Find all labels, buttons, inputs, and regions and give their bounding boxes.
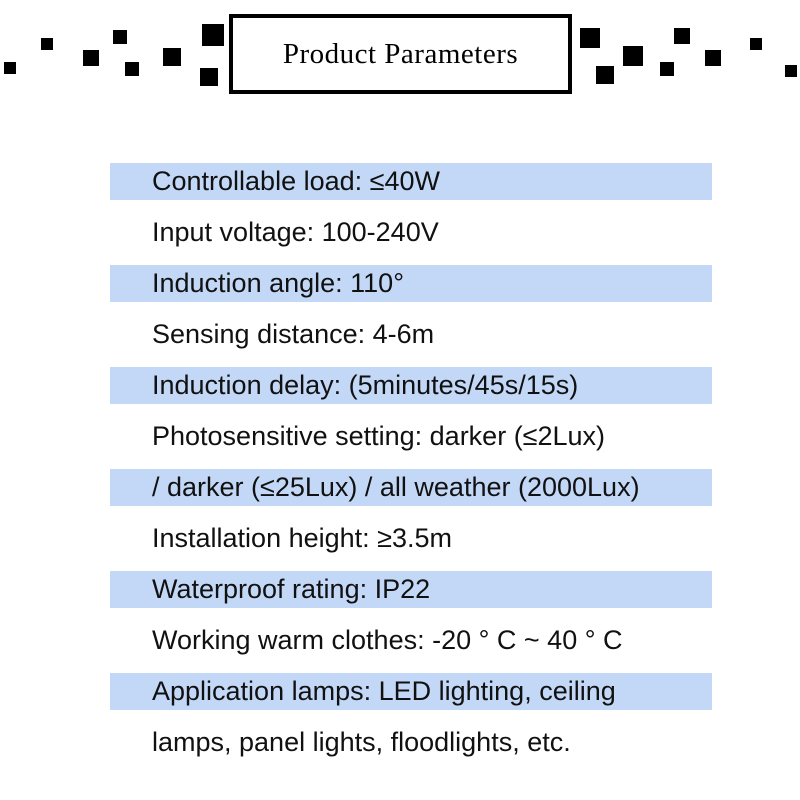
- decor-square-icon-right-7: [785, 65, 797, 77]
- header-decorative-band: Product Parameters: [0, 0, 800, 110]
- decor-square-icon-left-6: [202, 24, 224, 46]
- spec-row-text: Working warm clothes: -20 ° C ~ 40 ° C: [152, 627, 623, 654]
- spec-row-text: Installation height: ≥3.5m: [152, 525, 452, 552]
- decor-square-icon-right-3: [660, 62, 674, 76]
- title-box: Product Parameters: [229, 14, 572, 94]
- decor-square-icon-right-2: [623, 46, 643, 66]
- spec-list: Controllable load: ≤40WInput voltage: 10…: [110, 163, 712, 775]
- spec-row: lamps, panel lights, floodlights, etc.: [110, 724, 712, 761]
- page-title: Product Parameters: [283, 38, 518, 71]
- product-parameters-page: Product Parameters Controllable load: ≤4…: [0, 0, 800, 800]
- spec-row: Induction angle: 110°: [110, 265, 712, 302]
- decor-square-icon-right-5: [705, 50, 721, 66]
- spec-row: / darker (≤25Lux) / all weather (2000Lux…: [110, 469, 712, 506]
- decor-square-icon-left-5: [163, 48, 181, 66]
- spec-row: Input voltage: 100-240V: [110, 214, 712, 251]
- decor-square-icon-left-1: [41, 38, 53, 50]
- spec-row-text: Induction delay: (5minutes/45s/15s): [152, 372, 578, 399]
- spec-row-text: Photosensitive setting: darker (≤2Lux): [152, 423, 605, 450]
- spec-row: Induction delay: (5minutes/45s/15s): [110, 367, 712, 404]
- spec-row: Application lamps: LED lighting, ceiling: [110, 673, 712, 710]
- spec-row: Sensing distance: 4-6m: [110, 316, 712, 353]
- decor-square-icon-right-1: [596, 66, 614, 84]
- spec-row-text: Waterproof rating: IP22: [152, 576, 430, 603]
- decor-square-icon-left-7: [200, 68, 218, 86]
- spec-row-text: Application lamps: LED lighting, ceiling: [152, 678, 616, 705]
- spec-row-text: / darker (≤25Lux) / all weather (2000Lux…: [152, 474, 640, 501]
- spec-row-text: Controllable load: ≤40W: [152, 168, 440, 195]
- spec-row-text: Input voltage: 100-240V: [152, 219, 439, 246]
- spec-row: Working warm clothes: -20 ° C ~ 40 ° C: [110, 622, 712, 659]
- spec-row-text: Induction angle: 110°: [152, 270, 404, 297]
- decor-square-icon-left-0: [4, 62, 16, 74]
- decor-square-icon-left-4: [125, 62, 139, 76]
- spec-row: Controllable load: ≤40W: [110, 163, 712, 200]
- decor-square-icon-right-0: [580, 28, 600, 48]
- decor-square-icon-right-4: [674, 28, 690, 44]
- spec-row: Installation height: ≥3.5m: [110, 520, 712, 557]
- decor-square-icon-right-6: [750, 38, 762, 50]
- spec-row-text: lamps, panel lights, floodlights, etc.: [152, 729, 571, 756]
- decor-square-icon-left-2: [83, 50, 99, 66]
- decor-square-icon-left-3: [113, 30, 127, 44]
- spec-row: Waterproof rating: IP22: [110, 571, 712, 608]
- spec-row: Photosensitive setting: darker (≤2Lux): [110, 418, 712, 455]
- spec-row-text: Sensing distance: 4-6m: [152, 321, 434, 348]
